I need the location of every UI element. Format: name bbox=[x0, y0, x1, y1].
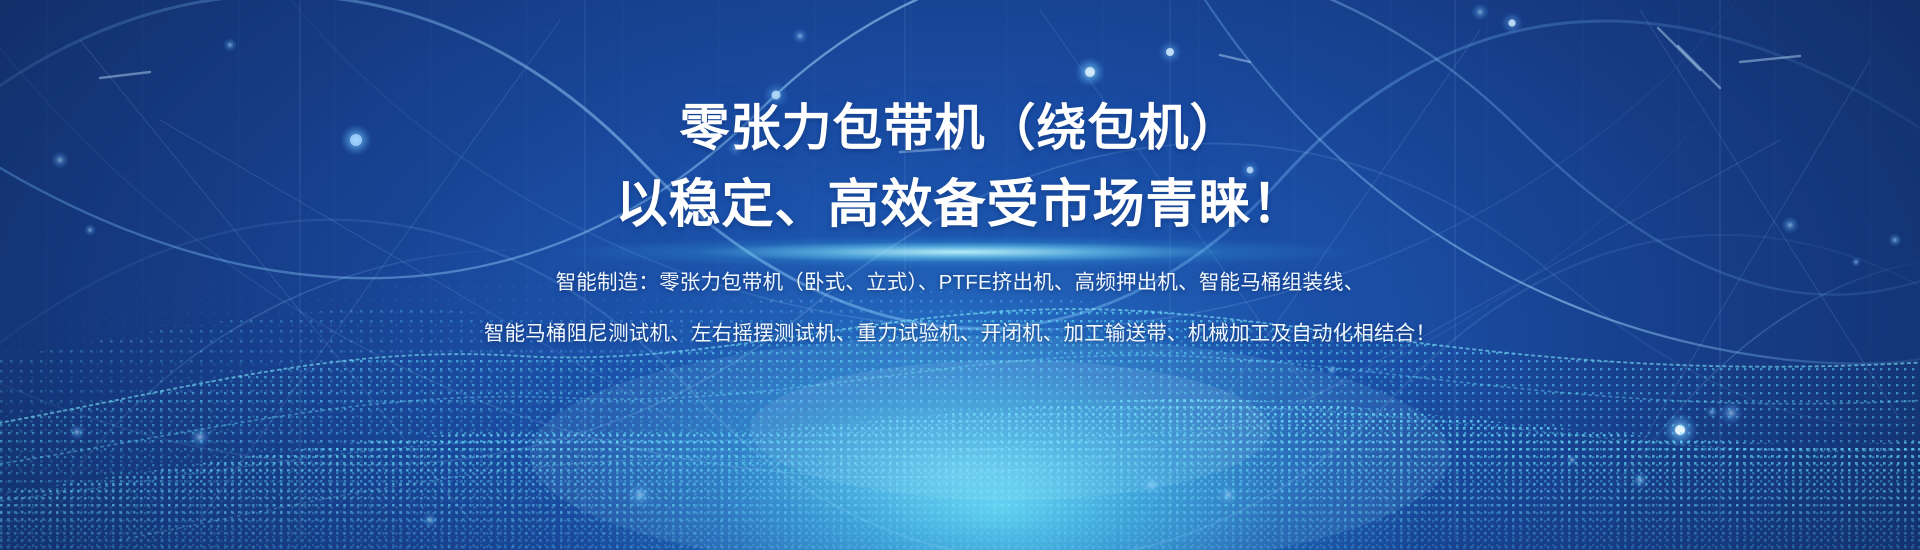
hero-banner: 零张力包带机（绕包机） 以稳定、高效备受市场青睐！ 智能制造：零张力包带机（卧式… bbox=[0, 0, 1920, 550]
subheadline-line-1: 智能制造：零张力包带机（卧式、立式）、PTFE挤出机、高频押出机、智能马桶组装线… bbox=[0, 273, 1920, 294]
subheadline-line-2: 智能马桶阻尼测试机、左右摇摆测试机、重力试验机、开闭机、加工输送带、机械加工及自… bbox=[0, 324, 1920, 345]
headline-line-2: 以稳定、高效备受市场青睐！ bbox=[0, 179, 1920, 231]
banner-content: 零张力包带机（绕包机） 以稳定、高效备受市场青睐！ 智能制造：零张力包带机（卧式… bbox=[0, 0, 1920, 344]
headline-line-1: 零张力包带机（绕包机） bbox=[0, 103, 1920, 153]
